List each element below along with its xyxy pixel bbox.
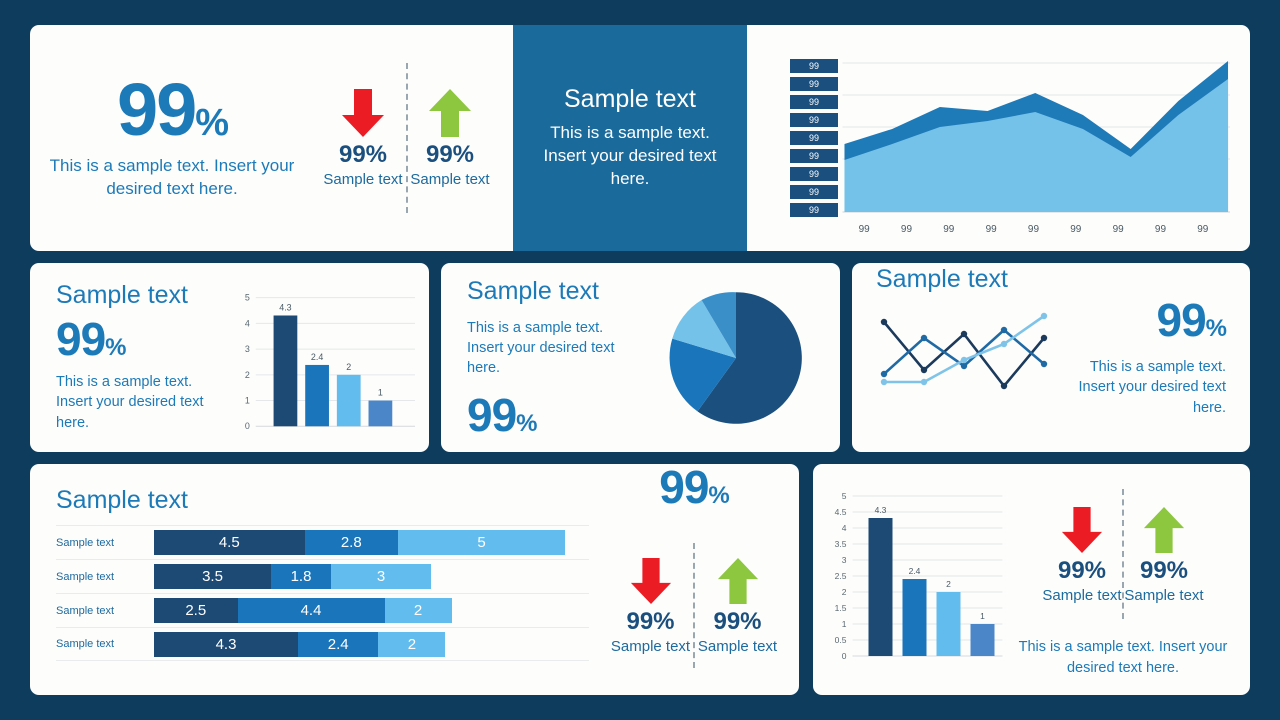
arrow-down-icon	[340, 87, 386, 139]
stacked-bar-track: 3.5 1.8 3	[154, 564, 589, 589]
stacked-bar-track: 4.3 2.4 2	[154, 632, 589, 657]
stacked-bar-row: Sample text 2.5 4.4 2	[56, 593, 589, 627]
y-tick-badge: 99	[790, 131, 838, 145]
stacked-bar-segment: 4.5	[154, 530, 305, 555]
svg-text:1: 1	[378, 388, 383, 398]
stacked-bar-rows: Sample text 4.5 2.8 5 Sample text 3.5 1.…	[56, 525, 589, 661]
svg-text:0.5: 0.5	[835, 635, 847, 645]
area-chart: 99 99 99 99 99 99 99 99 99 99 99 99 99 9…	[765, 43, 1232, 239]
bar-chart-small-plot: 543 210 4.32.4 21	[234, 285, 417, 435]
hero-arrow-up-value: 99%	[426, 141, 474, 169]
card-pie: Sample text This is a sample text. Inser…	[441, 263, 840, 452]
svg-text:5: 5	[245, 293, 250, 303]
x-tick-label: 99	[1028, 224, 1039, 235]
arrow-down-icon	[1060, 505, 1104, 555]
hero-arrow-up-label: Sample text	[410, 171, 489, 188]
y-tick-badge: 99	[790, 149, 838, 163]
x-tick-label: 99	[901, 224, 912, 235]
svg-text:4.3: 4.3	[279, 303, 291, 313]
row-top: 99% This is a sample text. Insert your d…	[30, 25, 1250, 251]
stacked-bar-segment: 2	[378, 632, 445, 657]
bar-chart-small-y-axis: 543 210	[245, 293, 250, 432]
card-detailed-arrow-up-label: Sample text	[1124, 587, 1203, 604]
bar-chart-detailed-y-axis: 54.54 3.532.5 21.51 0.50	[835, 491, 847, 661]
card-line-kpi: Sample text	[852, 263, 1250, 452]
card-bar-kpi-text: Sample text 99% This is a sample text. I…	[30, 263, 230, 452]
bar-segment	[369, 401, 393, 427]
svg-text:2: 2	[842, 587, 847, 597]
x-tick-label: 99	[1197, 224, 1208, 235]
card-pie-title: Sample text	[467, 277, 631, 306]
bar-segment	[903, 579, 927, 656]
row-middle: Sample text 99% This is a sample text. I…	[30, 263, 1250, 452]
card-detailed-arrow-up-block: 99% Sample text	[1124, 505, 1204, 604]
bar-segment	[274, 316, 298, 427]
bar-segment	[337, 375, 361, 426]
card-stacked-arrow-up-block: 99% Sample text	[695, 556, 780, 655]
svg-text:0: 0	[245, 421, 250, 431]
y-tick-badge: 99	[790, 95, 838, 109]
bar-segment	[971, 624, 995, 656]
stacked-bar-segment: 5	[398, 530, 565, 555]
panel-highlight-title: Sample text	[564, 85, 696, 114]
card-kpi-hero: 99% This is a sample text. Insert your d…	[30, 25, 513, 251]
stacked-bar-row: Sample text 3.5 1.8 3	[56, 559, 589, 593]
card-stacked-kpi-block: 99% 99% Sample text 99%	[589, 464, 799, 695]
stacked-bar-row: Sample text 4.5 2.8 5	[56, 525, 589, 559]
x-tick-label: 99	[1070, 224, 1081, 235]
bar-chart-detailed-plot: 54.54 3.532.5 21.51 0.50 4.32.4 21	[825, 488, 1008, 673]
card-stacked-arrow-down-block: 99% Sample text	[608, 556, 693, 655]
card-stacked-arrow-up-label: Sample text	[698, 638, 777, 655]
card-detailed-description: This is a sample text. Insert your desir…	[1012, 637, 1234, 678]
area-chart-x-axis: 99 99 99 99 99 99 99 99 99	[843, 224, 1224, 235]
hero-kpi-percent: %	[195, 102, 227, 144]
hero-kpi-description: This is a sample text. Insert your desir…	[44, 155, 300, 201]
y-tick-badge: 99	[790, 185, 838, 199]
bar-chart-small: 543 210 4.32.4 21	[230, 263, 429, 452]
y-tick-badge: 99	[790, 203, 838, 217]
y-tick-badge: 99	[790, 167, 838, 181]
arrow-up-icon	[427, 87, 473, 139]
svg-text:1: 1	[842, 619, 847, 629]
row-bottom: Sample text Sample text 4.5 2.8 5 Sample…	[30, 464, 1250, 695]
card-detailed-arrow-down-block: 99% Sample text	[1042, 505, 1122, 604]
svg-text:4.5: 4.5	[835, 507, 847, 517]
card-bar-detailed: 54.54 3.532.5 21.51 0.50 4.32.4 21	[813, 464, 1250, 695]
hero-kpi: 99% This is a sample text. Insert your d…	[30, 75, 300, 201]
stacked-bar-segment: 3	[331, 564, 431, 589]
svg-text:1.5: 1.5	[835, 603, 847, 613]
svg-text:2: 2	[346, 362, 351, 372]
x-tick-label: 99	[986, 224, 997, 235]
svg-text:3: 3	[842, 555, 847, 565]
stacked-bar-segment: 2.5	[154, 598, 238, 623]
svg-text:2: 2	[245, 370, 250, 380]
stacked-bar-segment: 4.4	[238, 598, 385, 623]
svg-text:4.3: 4.3	[875, 505, 887, 515]
stacked-bar-track: 2.5 4.4 2	[154, 598, 589, 623]
card-line-kpi-description: This is a sample text. Insert your desir…	[1052, 357, 1226, 418]
svg-text:1: 1	[245, 396, 250, 406]
card-bar-kpi-value: 99%	[56, 316, 230, 362]
stacked-bar-chart: Sample text Sample text 4.5 2.8 5 Sample…	[30, 464, 589, 695]
stacked-bar-row-label: Sample text	[56, 638, 154, 650]
hero-arrow-down-value: 99%	[339, 141, 387, 169]
card-stacked-bar: Sample text Sample text 4.5 2.8 5 Sample…	[30, 464, 799, 695]
card-stacked-arrow-group: 99% Sample text 99% Sample text	[608, 524, 780, 687]
card-stacked-arrow-down-value: 99%	[626, 608, 674, 636]
bar-segment	[937, 592, 961, 656]
area-chart-y-axis: 99 99 99 99 99 99 99 99 99	[790, 59, 838, 217]
y-tick-badge: 99	[790, 59, 838, 73]
stacked-bar-row-label: Sample text	[56, 571, 154, 583]
card-pie-kpi-value: 99%	[467, 392, 631, 438]
x-tick-label: 99	[1113, 224, 1124, 235]
arrow-up-icon	[1142, 505, 1186, 555]
svg-text:3.5: 3.5	[835, 539, 847, 549]
stacked-bar-segment: 2	[385, 598, 452, 623]
card-bar-kpi: Sample text 99% This is a sample text. I…	[30, 263, 429, 452]
x-tick-label: 99	[943, 224, 954, 235]
svg-text:3: 3	[245, 344, 250, 354]
svg-text:1: 1	[980, 611, 985, 621]
card-area-chart: 99 99 99 99 99 99 99 99 99 99 99 99 99 9…	[747, 25, 1250, 251]
svg-text:5: 5	[842, 491, 847, 501]
y-tick-badge: 99	[790, 77, 838, 91]
panel-highlight: Sample text This is a sample text. Inser…	[513, 25, 747, 251]
svg-text:2: 2	[946, 579, 951, 589]
hero-arrow-up-block: 99% Sample text	[408, 87, 493, 188]
bar-chart-detailed: 54.54 3.532.5 21.51 0.50 4.32.4 21	[813, 472, 1008, 688]
x-tick-label: 99	[859, 224, 870, 235]
card-stacked-arrow-up-value: 99%	[713, 608, 761, 636]
hero-arrow-group: 99% Sample text 99% Sample text	[300, 58, 513, 218]
svg-text:0: 0	[842, 651, 847, 661]
card-line-kpi-title: Sample text	[876, 265, 1052, 294]
arrow-down-icon	[629, 556, 673, 606]
card-pie-text: Sample text This is a sample text. Inser…	[441, 277, 631, 439]
card-stacked-kpi-value: 99%	[659, 464, 729, 510]
panel-highlight-description: This is a sample text. Insert your desir…	[529, 122, 731, 191]
svg-text:2.4: 2.4	[909, 566, 921, 576]
hero-arrow-down-label: Sample text	[323, 171, 402, 188]
card-stacked-arrow-down-label: Sample text	[611, 638, 690, 655]
stacked-bar-segment: 2.4	[298, 632, 378, 657]
svg-text:4: 4	[245, 318, 250, 328]
svg-text:4: 4	[842, 523, 847, 533]
card-pie-description: This is a sample text. Insert your desir…	[467, 318, 631, 379]
card-line-kpi-value: 99%	[1052, 297, 1226, 343]
card-line-chart-block: Sample text	[852, 317, 1052, 398]
stacked-bar-segment: 2.8	[305, 530, 399, 555]
stacked-bar-row-label: Sample text	[56, 605, 154, 617]
arrow-up-icon	[716, 556, 760, 606]
stacked-bar-segment: 1.8	[271, 564, 331, 589]
bar-segment	[305, 365, 329, 426]
pie-chart-plot	[666, 288, 806, 428]
card-stacked-title: Sample text	[56, 486, 589, 515]
card-detailed-arrow-group: 99% Sample text 99% Sample text	[1042, 489, 1204, 619]
card-detailed-arrow-down-label: Sample text	[1042, 587, 1121, 604]
stacked-bar-track: 4.5 2.8 5	[154, 530, 589, 555]
card-bar-kpi-title: Sample text	[56, 281, 230, 310]
svg-text:2.4: 2.4	[311, 352, 323, 362]
card-detailed-arrow-up-value: 99%	[1140, 557, 1188, 585]
hero-arrow-down-block: 99% Sample text	[321, 87, 406, 188]
stacked-bar-row-label: Sample text	[56, 537, 154, 549]
svg-text:2.5: 2.5	[835, 571, 847, 581]
stacked-bar-segment: 3.5	[154, 564, 271, 589]
dashboard-root: 99% This is a sample text. Insert your d…	[0, 0, 1280, 720]
hero-kpi-value: 99%	[44, 75, 300, 145]
stacked-bar-segment: 4.3	[154, 632, 298, 657]
card-detailed-arrow-down-value: 99%	[1058, 557, 1106, 585]
line-chart	[876, 308, 1051, 393]
card-bar-kpi-description: This is a sample text. Insert your desir…	[56, 372, 230, 433]
card-line-kpi-text: 99% This is a sample text. Insert your d…	[1052, 297, 1250, 418]
pie-chart	[631, 288, 840, 428]
stacked-bar-row: Sample text 4.3 2.4 2	[56, 627, 589, 661]
card-bar-detailed-kpi-block: 99% Sample text 99% Sample text This is …	[1008, 471, 1250, 688]
x-tick-label: 99	[1155, 224, 1166, 235]
bar-segment	[869, 518, 893, 656]
y-tick-badge: 99	[790, 113, 838, 127]
